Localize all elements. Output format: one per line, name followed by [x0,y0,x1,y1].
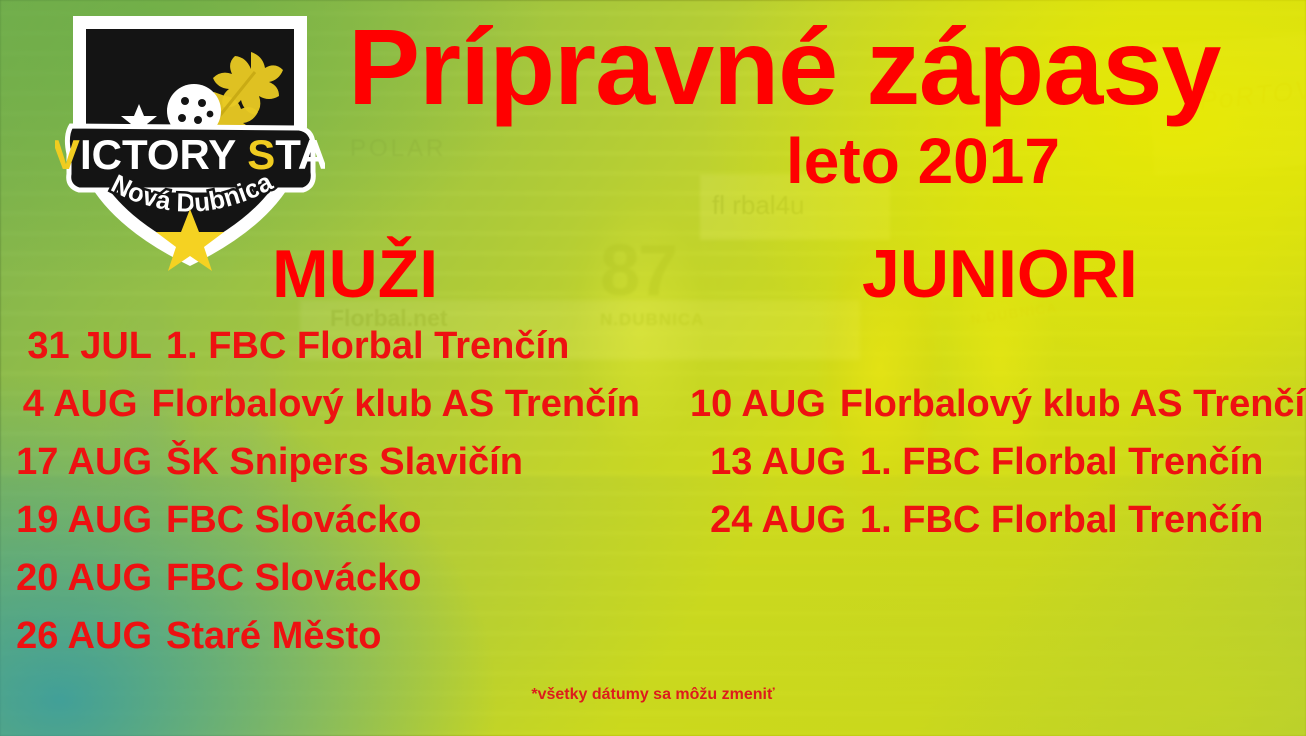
match-date: 31 JUL [0,325,152,368]
page-title: Prípravné zápasy [348,13,1220,121]
match-opponent: 1. FBC Florbal Trenčín [846,499,1263,542]
column-header-men: MUŽI [272,240,438,308]
match-date: 4 AUG [0,383,138,426]
match-row: 24 AUG 1. FBC Florbal Trenčín [690,499,1306,557]
match-date: 17 AUG [0,441,152,484]
match-row: 20 AUG FBC Slovácko [0,557,640,615]
match-opponent: 1. FBC Florbal Trenčín [152,325,569,368]
match-date: 24 AUG [690,499,846,542]
match-opponent: 1. FBC Florbal Trenčín [846,441,1263,484]
footnote: *všetky dátumy sa môžu zmeniť [0,686,1306,704]
match-opponent: Florbalový klub AS Trenčín [826,383,1306,426]
match-opponent: FBC Slovácko [152,499,422,542]
match-opponent: ŠK Snipers Slavičín [152,441,523,484]
match-date: 10 AUG [690,383,826,426]
match-list-juniors: 10 AUG Florbalový klub AS Trenčín 13 AUG… [690,383,1306,557]
match-date: 13 AUG [690,441,846,484]
match-row: 10 AUG Florbalový klub AS Trenčín [690,383,1306,441]
match-opponent: Florbalový klub AS Trenčín [138,383,640,426]
match-opponent: Staré Město [152,615,381,658]
match-date: 19 AUG [0,499,152,542]
match-row: 19 AUG FBC Slovácko [0,499,640,557]
poster-content: Prípravné zápasy leto 2017 MUŽI JUNIORI … [0,0,1306,736]
match-list-men: 31 JUL 1. FBC Florbal Trenčín 4 AUG Flor… [0,325,640,673]
match-row: 31 JUL 1. FBC Florbal Trenčín [0,325,640,383]
match-date: 20 AUG [0,557,152,600]
match-row: 13 AUG 1. FBC Florbal Trenčín [690,441,1306,499]
match-opponent: FBC Slovácko [152,557,422,600]
match-row: 4 AUG Florbalový klub AS Trenčín [0,383,640,441]
match-row: 17 AUG ŠK Snipers Slavičín [0,441,640,499]
page-subtitle: leto 2017 [786,129,1060,193]
column-header-juniors: JUNIORI [862,240,1138,308]
poster-root: ŠPoRTOVÝ fl rbal4u Florbal.net POLAR 87 … [0,0,1306,736]
match-row: 26 AUG Staré Město [0,615,640,673]
match-date: 26 AUG [0,615,152,658]
